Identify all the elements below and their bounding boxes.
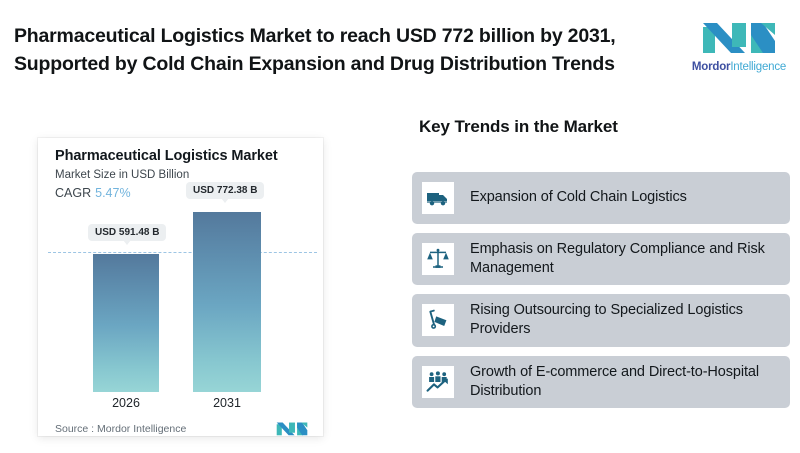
- brand-logo: MordorIntelligence: [687, 5, 791, 85]
- chart-subtitle: Market Size in USD Billion: [55, 169, 189, 181]
- chart-title: Pharmaceutical Logistics Market: [55, 148, 278, 164]
- people-growth-chart-icon: [422, 366, 454, 398]
- bar-chart-plot: USD 591.48 B USD 772.38 B: [38, 210, 323, 392]
- trends-heading: Key Trends in the Market: [419, 117, 618, 137]
- chart-source-row: Source : Mordor Intelligence: [55, 420, 309, 437]
- chart-cagr-value: 5.47%: [95, 186, 130, 200]
- infographic-page: Pharmaceutical Logistics Market to reach…: [0, 0, 800, 453]
- bar-2031: [193, 212, 261, 392]
- logo-wordmark: MordorIntelligence: [692, 61, 786, 73]
- trend-text: Rising Outsourcing to Specialized Logist…: [470, 301, 778, 339]
- trend-text: Growth of E-commerce and Direct-to-Hospi…: [470, 363, 778, 401]
- trend-text: Emphasis on Regulatory Compliance and Ri…: [470, 240, 778, 278]
- chart-cagr: CAGR5.47%: [55, 186, 131, 200]
- market-size-chart-card: Pharmaceutical Logistics Market Market S…: [38, 138, 323, 436]
- chart-cagr-label: CAGR: [55, 186, 91, 200]
- page-headline: Pharmaceutical Logistics Market to reach…: [14, 22, 674, 79]
- trend-card-regulatory-compliance[interactable]: Emphasis on Regulatory Compliance and Ri…: [412, 233, 790, 285]
- reference-line: [48, 252, 317, 253]
- bar-value-label-2031: USD 772.38 B: [186, 182, 264, 199]
- chart-source-text: Source : Mordor Intelligence: [55, 423, 186, 435]
- hand-truck-icon: [422, 304, 454, 336]
- logo-word-mordor: Mordor: [692, 61, 730, 73]
- trend-text: Expansion of Cold Chain Logistics: [470, 188, 687, 207]
- logo-word-intelligence: Intelligence: [730, 61, 786, 73]
- trends-list: Expansion of Cold Chain Logistics Emphas…: [412, 172, 790, 417]
- mordor-intelligence-logo-mark-small: [275, 420, 309, 437]
- bar-value-label-2026: USD 591.48 B: [88, 224, 166, 241]
- balance-scales-icon: [422, 243, 454, 275]
- mordor-intelligence-logo-mark: [701, 17, 777, 57]
- x-axis-label-2026: 2026: [93, 396, 159, 410]
- trend-card-ecommerce-growth[interactable]: Growth of E-commerce and Direct-to-Hospi…: [412, 356, 790, 408]
- header: Pharmaceutical Logistics Market to reach…: [0, 0, 800, 100]
- trend-card-outsourcing[interactable]: Rising Outsourcing to Specialized Logist…: [412, 294, 790, 346]
- truck-icon: [422, 182, 454, 214]
- bar-2026: [93, 254, 159, 392]
- x-axis-label-2031: 2031: [193, 396, 261, 410]
- trend-card-cold-chain[interactable]: Expansion of Cold Chain Logistics: [412, 172, 790, 224]
